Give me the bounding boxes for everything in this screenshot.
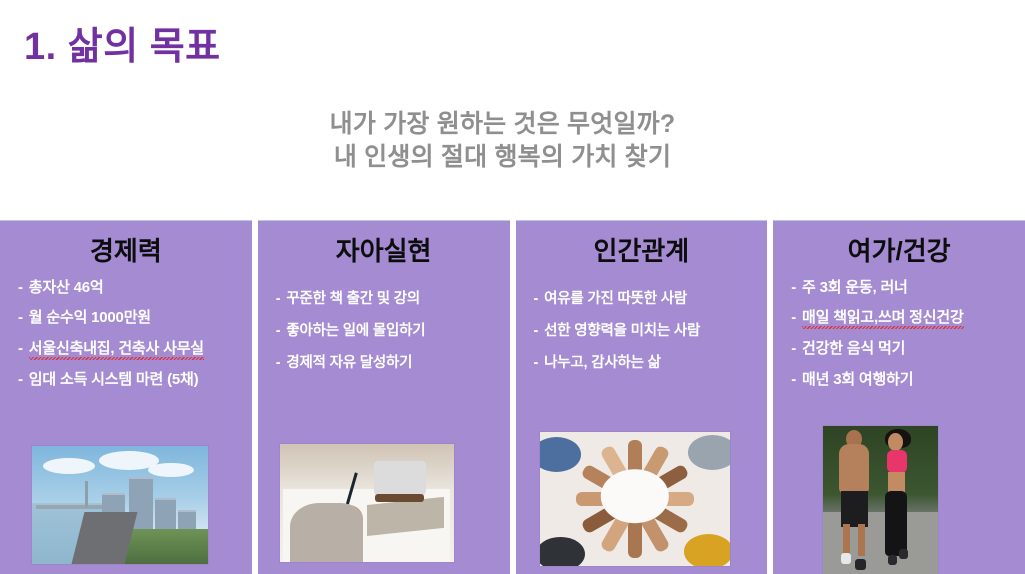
goal-column-relationships[interactable]: 인간관계 - 여유를 가진 따뜻한 사람 - 선한 영향력을 미치는 사람 - …: [516, 220, 768, 574]
bullet-text: 총자산 46억: [29, 280, 104, 296]
bullet-marker: -: [534, 324, 539, 339]
list-item: - 매일 책읽고,쓰며 정신건강: [791, 310, 1015, 326]
writing-hand-notebook-coffee-photo: [280, 444, 454, 562]
column-header: 인간관계: [594, 237, 690, 266]
list-item: - 좋아하는 일에 몰입하기: [276, 324, 500, 339]
bullet-marker: -: [18, 310, 23, 326]
subtitle-line-1: 내가 가장 원하는 것은 무엇일까?: [0, 108, 1005, 141]
bullet-marker: -: [791, 280, 796, 296]
circle-of-hands-diverse-group-photo: [540, 432, 730, 566]
seoul-riverside-apartments-photo: [32, 446, 208, 564]
goal-column-leisure-health[interactable]: 여가/건강 - 주 3회 운동, 러너 - 매일 책읽고,쓰며 정신건강 - 건…: [773, 220, 1025, 574]
list-item: - 월 순수익 1000만원: [18, 310, 242, 326]
bullet-text: 경제적 자유 달성하기: [286, 356, 412, 371]
column-header: 경제력: [90, 237, 162, 266]
bullet-text: 주 3회 운동, 러너: [802, 280, 908, 296]
list-item: - 선한 영향력을 미치는 사람: [534, 324, 758, 339]
bullet-text: 임대 소득 시스템 마련 (5채): [29, 372, 199, 388]
bullet-marker: -: [276, 292, 281, 307]
bullet-text: 나누고, 감사하는 삶: [544, 356, 661, 371]
bullet-marker: -: [791, 341, 796, 357]
bullet-marker: -: [534, 292, 539, 307]
bullet-text: 매년 3회 여행하기: [802, 372, 913, 388]
bullet-text: 건강한 음식 먹기: [802, 341, 905, 357]
bullet-marker: -: [18, 372, 23, 388]
column-bullet-list: - 꾸준한 책 출간 및 강의 - 좋아하는 일에 몰입하기 - 경제적 자유 …: [258, 292, 510, 389]
bullet-text: 선한 영향력을 미치는 사람: [544, 324, 700, 339]
list-item: - 꾸준한 책 출간 및 강의: [276, 292, 500, 307]
column-bullet-list: - 여유를 가진 따뜻한 사람 - 선한 영향력을 미치는 사람 - 나누고, …: [516, 292, 768, 389]
subtitle-line-2: 내 인생의 절대 행복의 가치 찾기: [0, 141, 1005, 174]
goal-column-self-realization[interactable]: 자아실현 - 꾸준한 책 출간 및 강의 - 좋아하는 일에 몰입하기 - 경제…: [258, 220, 510, 574]
bullet-text-misspelled: 매일 책읽고,쓰며 정신건강: [802, 310, 964, 326]
goal-column-economy[interactable]: 경제력 - 총자산 46억 - 월 순수익 1000만원 - 서울신축내집, 건…: [0, 220, 252, 574]
goal-columns: 경제력 - 총자산 46억 - 월 순수익 1000만원 - 서울신축내집, 건…: [0, 220, 1025, 574]
list-item: - 서울신축내집, 건축사 사무실: [18, 341, 242, 357]
list-item: - 건강한 음식 먹기: [791, 341, 1015, 357]
presentation-slide: 1. 삶의 목표 내가 가장 원하는 것은 무엇일까? 내 인생의 절대 행복의…: [0, 0, 1025, 574]
slide-subtitle: 내가 가장 원하는 것은 무엇일까? 내 인생의 절대 행복의 가치 찾기: [0, 108, 1025, 174]
list-item: - 경제적 자유 달성하기: [276, 356, 500, 371]
slide-title: 1. 삶의 목표: [24, 27, 221, 69]
column-header: 여가/건강: [848, 237, 951, 266]
column-header: 자아실현: [336, 237, 432, 266]
bullet-text: 좋아하는 일에 몰입하기: [286, 324, 425, 339]
list-item: - 총자산 46억: [18, 280, 242, 296]
bullet-marker: -: [18, 280, 23, 296]
list-item: - 나누고, 감사하는 삶: [534, 356, 758, 371]
bullet-marker: -: [276, 356, 281, 371]
bullet-text: 월 순수익 1000만원: [29, 310, 151, 326]
bullet-marker: -: [534, 356, 539, 371]
bullet-text-misspelled: 서울신축내집, 건축사 사무실: [29, 341, 204, 357]
bullet-marker: -: [791, 310, 796, 326]
bullet-text: 여유를 가진 따뜻한 사람: [544, 292, 687, 307]
bullet-marker: -: [791, 372, 796, 388]
column-bullet-list: - 총자산 46억 - 월 순수익 1000만원 - 서울신축내집, 건축사 사…: [0, 280, 252, 403]
list-item: - 임대 소득 시스템 마련 (5채): [18, 372, 242, 388]
bullet-text: 꾸준한 책 출간 및 강의: [286, 292, 420, 307]
list-item: - 매년 3회 여행하기: [791, 372, 1015, 388]
list-item: - 여유를 가진 따뜻한 사람: [534, 292, 758, 307]
bullet-marker: -: [276, 324, 281, 339]
column-bullet-list: - 주 3회 운동, 러너 - 매일 책읽고,쓰며 정신건강 - 건강한 음식 …: [773, 280, 1025, 403]
bullet-marker: -: [18, 341, 23, 357]
couple-jogging-outdoors-photo: [823, 426, 938, 574]
list-item: - 주 3회 운동, 러너: [791, 280, 1015, 296]
